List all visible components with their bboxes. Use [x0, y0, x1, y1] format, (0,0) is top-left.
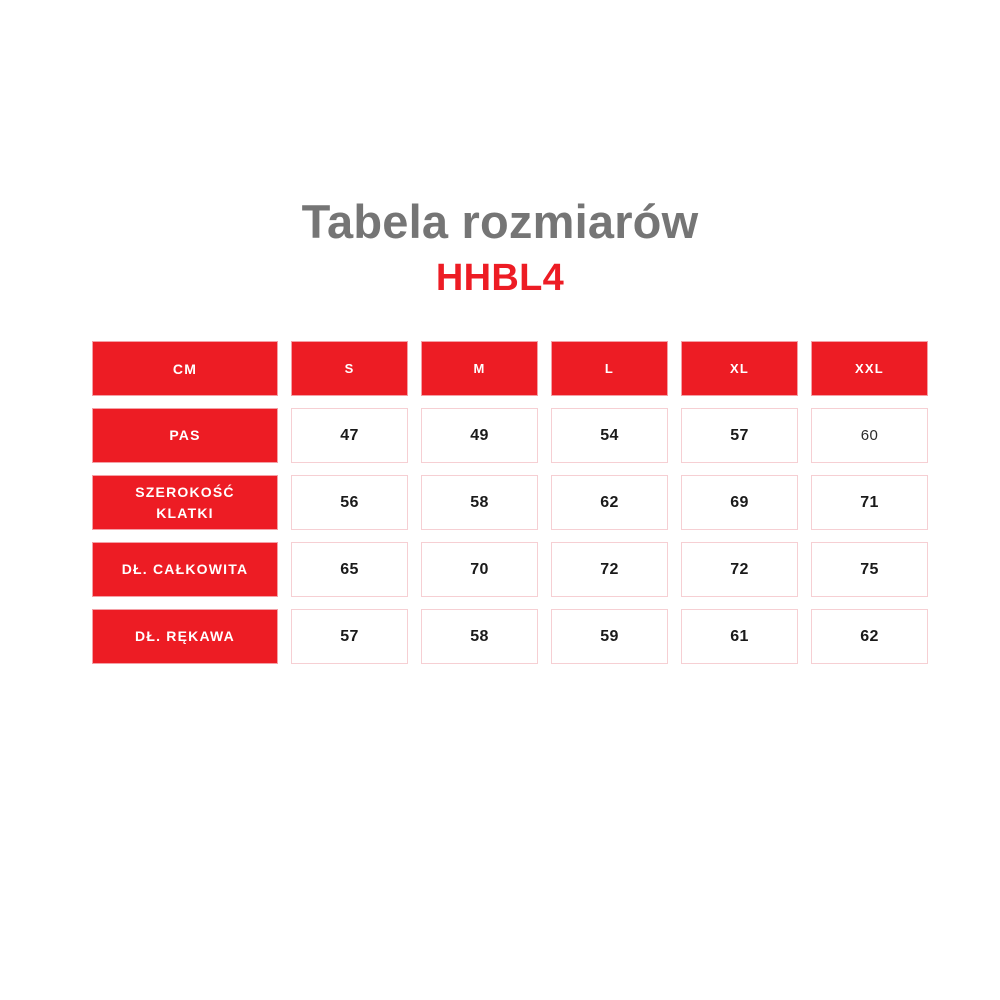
row-label-dl-calkowita: DŁ. CAŁKOWITA [92, 542, 278, 597]
cell-rekawa-xl: 61 [681, 609, 798, 664]
header-size-xl: XL [681, 341, 798, 396]
header-unit-cm: CM [92, 341, 278, 396]
row-label-line-1: DŁ. CAŁKOWITA [97, 559, 273, 579]
cell-pas-s: 47 [291, 408, 408, 463]
size-chart-page: Tabela rozmiarów HHBL4 CM S M L XL XXL [0, 0, 1000, 1000]
cell-pas-xl: 57 [681, 408, 798, 463]
table-row: SZEROKOŚĆ KLATKI 56 58 62 69 71 [92, 475, 928, 530]
cell-pas-xxl: 60 [811, 408, 928, 463]
product-code-title: HHBL4 [0, 255, 1000, 303]
row-label-dl-rekawa: DŁ. RĘKAWA [92, 609, 278, 664]
row-label-line-1: SZEROKOŚĆ [97, 482, 273, 502]
cell-calkowita-l: 72 [551, 542, 668, 597]
header-size-s: S [291, 341, 408, 396]
table-row: PAS 47 49 54 57 60 [92, 408, 928, 463]
cell-szerokosc-l: 62 [551, 475, 668, 530]
cell-calkowita-s: 65 [291, 542, 408, 597]
row-label-line-1: PAS [97, 425, 273, 445]
cell-rekawa-m: 58 [421, 609, 538, 664]
cell-szerokosc-m: 58 [421, 475, 538, 530]
cell-rekawa-l: 59 [551, 609, 668, 664]
row-label-line-1: DŁ. RĘKAWA [97, 626, 273, 646]
table-header-row: CM S M L XL XXL [92, 341, 928, 396]
cell-pas-m: 49 [421, 408, 538, 463]
row-label-line-2: KLATKI [97, 503, 273, 523]
row-label-pas: PAS [92, 408, 278, 463]
cell-calkowita-xl: 72 [681, 542, 798, 597]
page-title: Tabela rozmiarów [0, 196, 1000, 249]
table-row: DŁ. CAŁKOWITA 65 70 72 72 75 [92, 542, 928, 597]
cell-rekawa-xxl: 62 [811, 609, 928, 664]
header-size-xxl: XXL [811, 341, 928, 396]
cell-szerokosc-s: 56 [291, 475, 408, 530]
size-table: CM S M L XL XXL PAS 47 49 54 57 60 [79, 329, 941, 676]
header-size-l: L [551, 341, 668, 396]
row-label-szerokosc-klatki: SZEROKOŚĆ KLATKI [92, 475, 278, 530]
table-row: DŁ. RĘKAWA 57 58 59 61 62 [92, 609, 928, 664]
cell-calkowita-m: 70 [421, 542, 538, 597]
cell-szerokosc-xl: 69 [681, 475, 798, 530]
cell-szerokosc-xxl: 71 [811, 475, 928, 530]
cell-pas-l: 54 [551, 408, 668, 463]
cell-rekawa-s: 57 [291, 609, 408, 664]
title-block: Tabela rozmiarów HHBL4 [0, 196, 1000, 302]
header-size-m: M [421, 341, 538, 396]
cell-calkowita-xxl: 75 [811, 542, 928, 597]
